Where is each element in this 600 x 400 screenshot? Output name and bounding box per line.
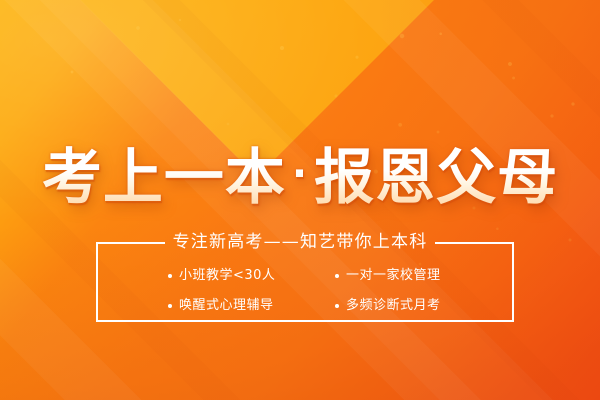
feature-label: 唤醒式心理辅导 <box>179 297 274 315</box>
feature-item: 小班教学<30人 <box>168 262 331 290</box>
headline: 考上一本·报恩父母 <box>0 140 600 212</box>
feature-item: 唤醒式心理辅导 <box>168 292 331 320</box>
headline-left-text: 考上一本 <box>42 143 286 213</box>
bullet-dot-icon <box>335 304 339 308</box>
feature-label: 小班教学<30人 <box>179 267 275 285</box>
bullet-dot-icon <box>168 274 172 278</box>
feature-label: 多频诊断式月考 <box>346 297 441 315</box>
headline-right-text: 报恩父母 <box>314 143 558 213</box>
bullet-dot-icon <box>168 304 172 308</box>
feature-list: 小班教学<30人 一对一家校管理 唤醒式心理辅导 多频诊断式月考 <box>96 262 514 320</box>
feature-item: 多频诊断式月考 <box>335 292 498 320</box>
headline-separator-dot: · <box>286 151 314 197</box>
promo-banner: 考上一本·报恩父母 专注新高考——知艺带你上本科 小班教学<30人 一对一家校管… <box>0 0 600 400</box>
bullet-dot-icon <box>335 274 339 278</box>
feature-frame-top-segment <box>435 242 514 244</box>
feature-label: 一对一家校管理 <box>346 267 441 285</box>
feature-frame-top-segment <box>96 242 165 244</box>
feature-item: 一对一家校管理 <box>335 262 498 290</box>
